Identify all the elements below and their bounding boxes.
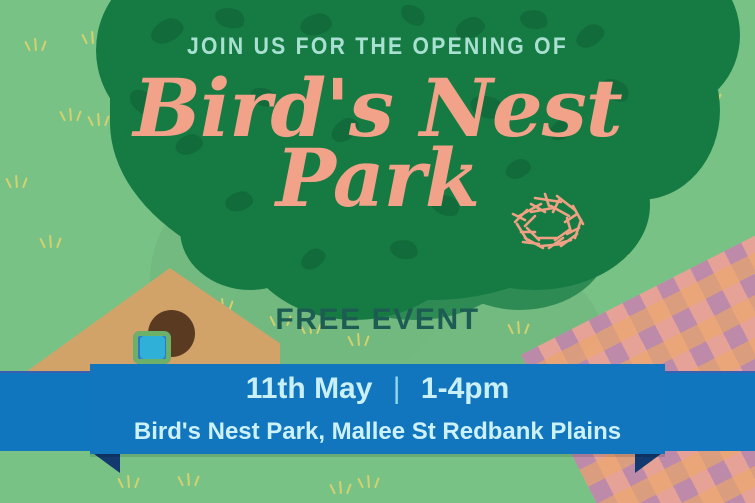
page-title: Bird's Nest Park	[0, 72, 755, 215]
grass-tuft-icon	[178, 470, 200, 486]
event-date: 11th May	[246, 372, 373, 405]
event-address: Bird's Nest Park, Mallee St Redbank Plai…	[0, 418, 755, 446]
cushion-inner	[140, 336, 165, 359]
grass-tuft-icon	[118, 472, 140, 488]
grass-tuft-icon	[330, 478, 352, 494]
free-event-label: FREE EVENT	[0, 303, 755, 337]
event-poster: JOIN US FOR THE OPENING OF Bird's Nest P…	[0, 0, 755, 503]
datetime-separator: |	[381, 372, 413, 405]
grass-tuft-icon	[25, 35, 47, 51]
kicker-text: JOIN US FOR THE OPENING OF	[45, 33, 709, 61]
grass-tuft-icon	[40, 232, 62, 248]
event-datetime: 11th May | 1-4pm	[0, 372, 755, 406]
title-line-2: Park	[0, 142, 755, 216]
grass-tuft-icon	[358, 472, 380, 488]
event-time: 1-4pm	[421, 372, 509, 405]
